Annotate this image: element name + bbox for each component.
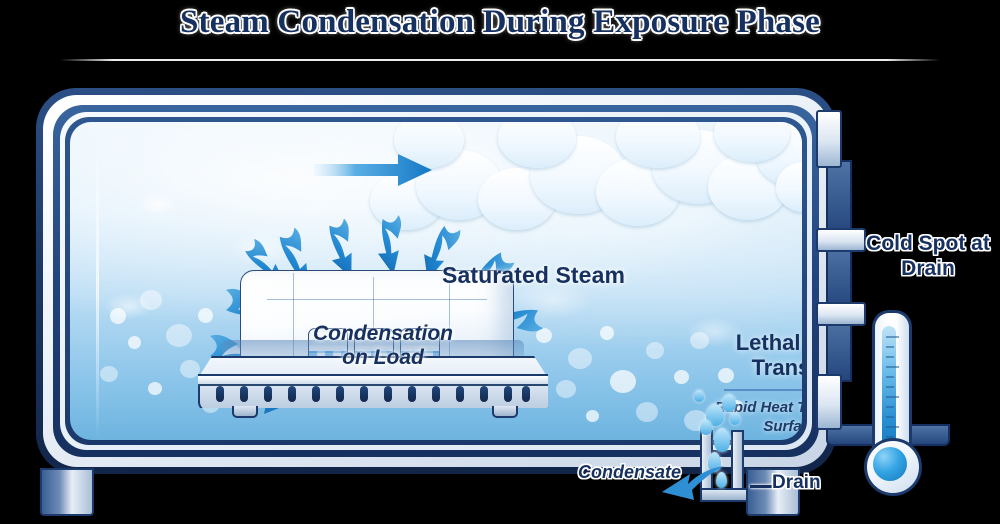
- tray-hole: [264, 386, 272, 402]
- condensate-bubble-icon: [690, 332, 709, 349]
- tray-hole: [240, 386, 248, 402]
- label-condensation-on-load: Condensation on Load: [312, 322, 454, 369]
- thermometer-tick: [886, 396, 899, 398]
- thermometer-tick: [886, 336, 899, 338]
- tray-lip: [198, 374, 548, 386]
- condensate-drop: [722, 394, 736, 412]
- tray-hole: [504, 386, 512, 402]
- chamber-door-seam: [96, 122, 99, 440]
- condensate-bubble-icon: [166, 324, 192, 347]
- condensate-bubble-icon: [110, 308, 126, 324]
- tray-foot: [232, 406, 258, 418]
- chamber-cavity: Saturated Steam Condensation on Load Let…: [70, 122, 802, 440]
- label-lethal-heat-transfer: Lethal Heat Transfer: [710, 330, 802, 380]
- thermometer-bulb-fill: [873, 447, 907, 481]
- page-title: Steam Condensation During Exposure Phase: [0, 4, 1000, 41]
- condensate-drop: [714, 428, 730, 452]
- thermometer-tick: [886, 406, 894, 408]
- thermometer-tick: [886, 356, 894, 358]
- thermometer-tick: [886, 366, 899, 368]
- chamber-port-icon: [816, 374, 842, 430]
- label-saturated-steam: Saturated Steam: [442, 262, 625, 289]
- chamber-leg-icon: [40, 468, 94, 516]
- condensate-drop: [700, 420, 712, 435]
- thermometer-icon: [862, 310, 918, 510]
- thermometer-tick: [886, 426, 899, 428]
- lethal-heat-transfer-block: Lethal Heat Transfer Rapid Heat Transfer…: [710, 330, 802, 437]
- label-cold-spot-at-drain: Cold Spot at Drain: [858, 232, 998, 282]
- condensate-bubble-icon: [636, 402, 658, 422]
- condensate-bubble-icon: [600, 326, 614, 340]
- condensate-drop: [730, 412, 740, 425]
- condensate-bubble-icon: [568, 348, 592, 369]
- condensate-bubble-icon: [610, 370, 636, 393]
- tray-hole: [522, 386, 530, 402]
- tray-hole: [360, 386, 368, 402]
- tray-hole: [312, 386, 320, 402]
- tray-hole: [216, 386, 224, 402]
- tray-hole: [456, 386, 464, 402]
- condensate-bubble-icon: [646, 342, 664, 359]
- thermometer-scale: [886, 332, 908, 450]
- condensate-bubble-icon: [556, 380, 576, 398]
- tray-hole: [432, 386, 440, 402]
- chamber-port-icon: [816, 110, 842, 168]
- label-condensate: Condensate: [578, 462, 681, 483]
- thermometer-tick: [886, 386, 894, 388]
- chamber-port-stem: [826, 318, 852, 382]
- flow-arrow-right-icon: [314, 150, 434, 190]
- diagram-canvas: Steam Condensation During Exposure Phase: [0, 0, 1000, 524]
- tray-hole: [480, 386, 488, 402]
- tray-hole-row: [216, 386, 530, 404]
- condensate-bubble-icon: [674, 370, 689, 384]
- thermometer-tick: [886, 376, 894, 378]
- title-underline: [60, 59, 940, 61]
- tray-hole: [336, 386, 344, 402]
- condensate-bubble-icon: [586, 410, 599, 422]
- title-bar: Steam Condensation During Exposure Phase: [0, 0, 1000, 66]
- condensate-bubble-icon: [180, 360, 200, 378]
- chamber-port-stem: [826, 244, 852, 310]
- condensate-drop: [694, 390, 704, 402]
- tray-foot: [492, 406, 518, 418]
- chamber-port-icon: [816, 302, 866, 326]
- thermometer-tick: [886, 416, 894, 418]
- thermometer-tick: [886, 346, 894, 348]
- condensate-bubble-icon: [100, 366, 118, 382]
- tray-hole: [384, 386, 392, 402]
- wrap-fold-line: [267, 299, 487, 300]
- condensate-bubble-icon: [148, 382, 162, 395]
- chamber-port-stem: [826, 160, 852, 236]
- condensate-bubble-icon: [128, 336, 141, 349]
- label-drain: Drain: [772, 472, 821, 494]
- condensate-bubble-icon: [140, 290, 162, 310]
- tray-hole: [288, 386, 296, 402]
- heat-block-divider: [724, 389, 802, 391]
- tray-hole: [408, 386, 416, 402]
